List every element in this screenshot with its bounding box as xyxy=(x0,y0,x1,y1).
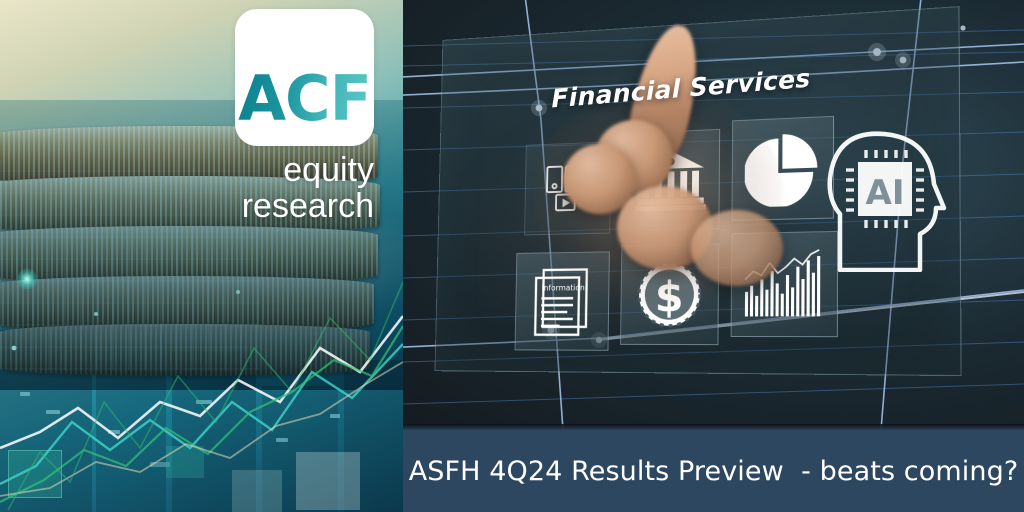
acf-logo-card: ACF xyxy=(235,9,374,146)
growth-chart-lines xyxy=(0,252,403,512)
information-document-icon: Information xyxy=(531,265,592,336)
title-banner: ASFH 4Q24 Results Preview - beats coming… xyxy=(403,430,1024,512)
tile-media-document[interactable] xyxy=(524,141,611,235)
brand-tagline: equity research xyxy=(150,152,374,224)
ai-brain-head-icon[interactable]: AI xyxy=(810,122,950,272)
information-tile-label: Information xyxy=(541,283,585,293)
glow-node xyxy=(16,268,38,290)
dollar-coin-icon: $ xyxy=(633,257,706,332)
tile-currency[interactable]: $ xyxy=(620,243,719,345)
tagline-line-research: research xyxy=(150,188,374,224)
ai-chip-label: AI xyxy=(866,173,905,213)
tile-information[interactable]: Information xyxy=(515,251,610,350)
tile-bank[interactable] xyxy=(622,129,721,231)
tagline-line-equity: equity xyxy=(150,152,374,188)
bank-building-icon xyxy=(635,147,706,213)
right-fintech-panel: Information $ xyxy=(403,0,1024,430)
acf-logo-wordmark: ACF xyxy=(238,68,371,146)
promotional-banner-image: ACF equity research xyxy=(0,0,1024,512)
document-play-icon xyxy=(543,162,592,216)
banner-title-text: ASFH 4Q24 Results Preview - beats coming… xyxy=(409,456,1019,487)
svg-text:$: $ xyxy=(655,274,684,322)
